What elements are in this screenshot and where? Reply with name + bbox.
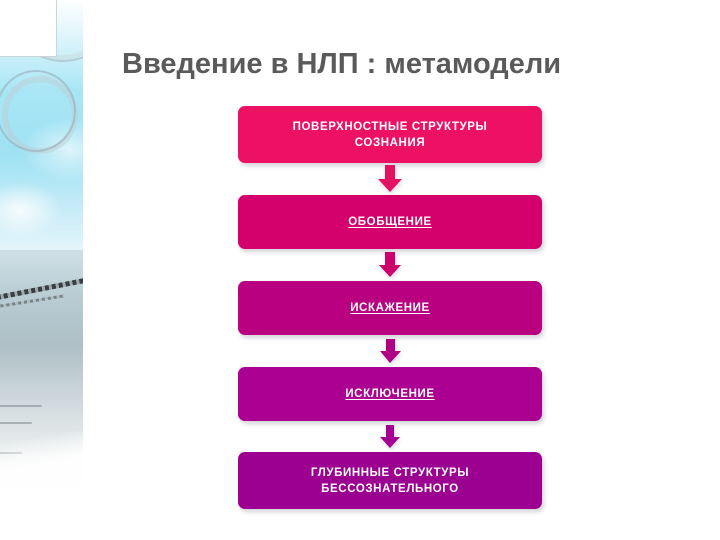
- decorative-photo-strip: [0, 0, 83, 540]
- arrow-down-icon-4: [379, 425, 401, 449]
- flow-box-label: ИСКЛЮЧЕНИЕ: [335, 386, 444, 402]
- corner-frame: [0, 0, 57, 57]
- flow-diagram: ПОВЕРХНОСТНЫЕ СТРУКТУРЫ СОЗНАНИЯ ОБОБЩЕН…: [238, 106, 542, 509]
- arrow-down-icon-3: [379, 339, 402, 364]
- flow-box-deletion[interactable]: ИСКЛЮЧЕНИЕ: [238, 367, 542, 421]
- page-title: Введение в НЛП : метамодели: [122, 48, 702, 81]
- flow-box-surface-structures[interactable]: ПОВЕРХНОСТНЫЕ СТРУКТУРЫ СОЗНАНИЯ: [238, 106, 542, 163]
- arrow-container: [238, 421, 542, 452]
- flow-box-label: ОБОБЩЕНИЕ: [338, 214, 441, 230]
- flow-box-generalization[interactable]: ОБОБЩЕНИЕ: [238, 195, 542, 249]
- flow-box-label: ИСКАЖЕНИЕ: [340, 300, 440, 316]
- arrow-down-icon-1: [377, 165, 403, 193]
- slide: Введение в НЛП : метамодели ПОВЕРХНОСТНЫ…: [0, 0, 720, 540]
- arrow-container: [238, 249, 542, 281]
- flow-box-label: ГЛУБИННЫЕ СТРУКТУРЫ БЕССОЗНАТЕЛЬНОГО: [301, 465, 479, 497]
- arrow-container: [238, 163, 542, 195]
- shoreline: [0, 368, 83, 540]
- arrow-container: [238, 335, 542, 367]
- flow-box-distortion[interactable]: ИСКАЖЕНИЕ: [238, 281, 542, 335]
- flow-box-label: ПОВЕРХНОСТНЫЕ СТРУКТУРЫ СОЗНАНИЯ: [283, 119, 498, 151]
- arrow-down-icon-2: [378, 252, 402, 278]
- flow-box-deep-structures[interactable]: ГЛУБИННЫЕ СТРУКТУРЫ БЕССОЗНАТЕЛЬНОГО: [238, 452, 542, 509]
